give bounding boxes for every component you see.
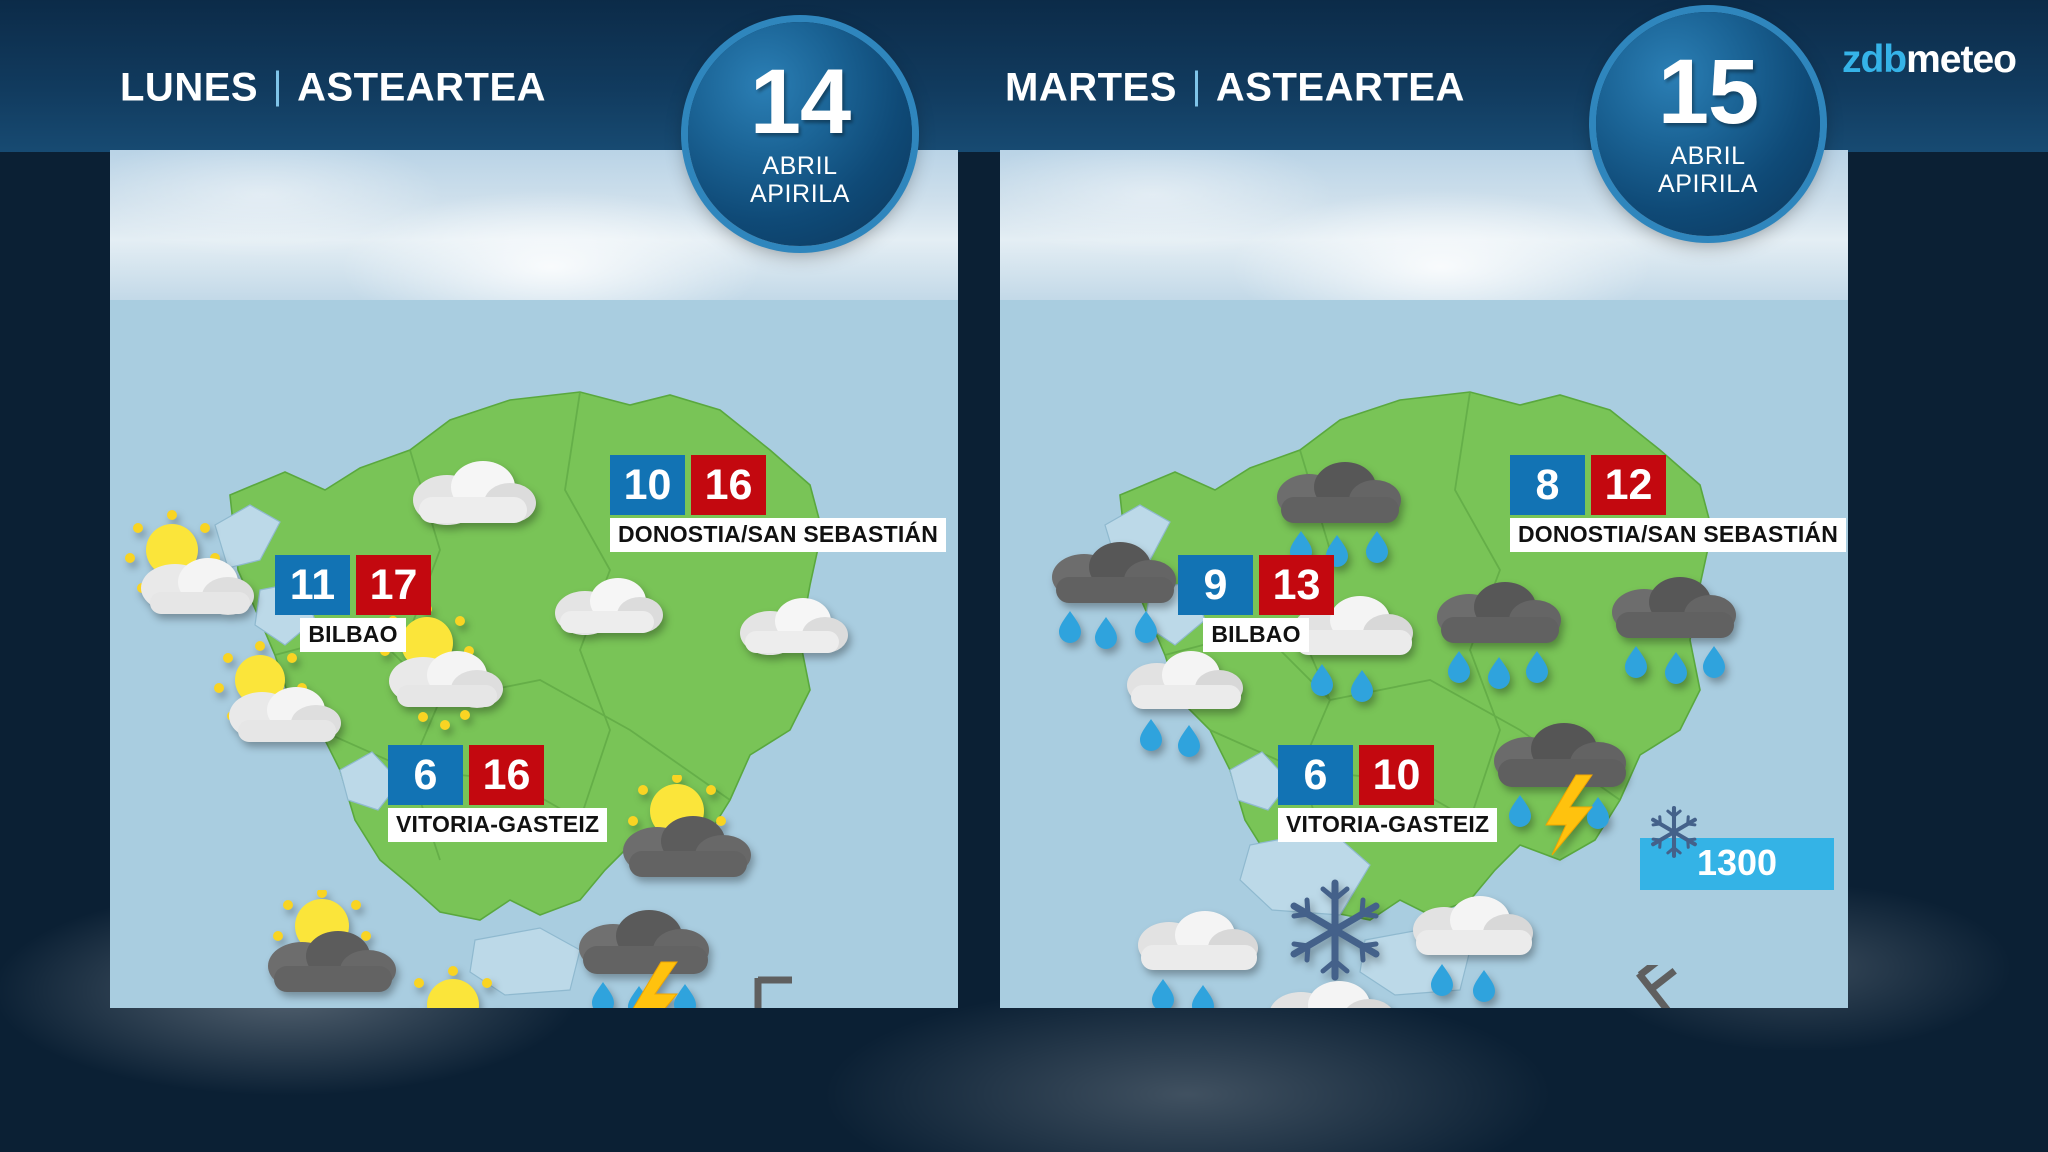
date-number: 15 xyxy=(1658,50,1758,135)
date-number: 14 xyxy=(750,60,850,145)
day-name-es: LUNES xyxy=(120,66,258,110)
rain-cloud-icon xyxy=(1600,560,1750,700)
wind-barb-south-icon xyxy=(740,970,810,1008)
temperature-group-bilbao: 11 17 BILBAO xyxy=(275,555,431,652)
temp-min: 6 xyxy=(388,745,463,805)
temperature-group-bilbao: 9 13 BILBAO xyxy=(1178,555,1334,652)
rain-cloud-icon xyxy=(1400,880,1545,1008)
sun-behind-dark-cloud-icon xyxy=(250,890,410,1008)
logo-part-meteo: meteo xyxy=(1906,38,2016,81)
temp-min: 9 xyxy=(1178,555,1253,615)
forecast-panel-monday: 10 16 DONOSTIA/SAN SEBASTIÁN 11 17 BILBA… xyxy=(110,150,958,1008)
wind-barb-southeast-icon xyxy=(1620,965,1720,1008)
temperature-row: 8 12 xyxy=(1510,455,1846,515)
sun-behind-dark-cloud-icon xyxy=(605,775,765,900)
date-badge-monday: 14 ABRIL APIRILA xyxy=(688,22,912,246)
temp-max: 13 xyxy=(1259,555,1334,615)
temp-min: 10 xyxy=(610,455,685,515)
temperature-row: 6 16 xyxy=(388,745,607,805)
rain-cloud-icon xyxy=(1425,565,1575,705)
thunderstorm-icon xyxy=(565,890,730,1008)
month-name-es: ABRIL xyxy=(762,152,837,180)
rain-cloud-icon xyxy=(1255,965,1410,1008)
temp-max: 16 xyxy=(469,745,544,805)
snow-level-badge: 1300 xyxy=(1640,838,1834,890)
rain-cloud-icon xyxy=(1115,635,1255,770)
date-badge-tuesday: 15 ABRIL APIRILA xyxy=(1596,12,1820,236)
cloud-icon xyxy=(725,585,855,670)
temp-min: 11 xyxy=(275,555,350,615)
temperature-group-donostia: 10 16 DONOSTIA/SAN SEBASTIÁN xyxy=(610,455,946,552)
panel-map-background: 8 12 DONOSTIA/SAN SEBASTIÁN 9 13 BILBAO … xyxy=(1000,300,1848,1008)
temp-max: 17 xyxy=(356,555,431,615)
day-name-es: MARTES xyxy=(1005,66,1177,110)
sun-behind-cloud-icon xyxy=(210,640,360,755)
zdbmeteo-logo: zdbmeteo xyxy=(1842,38,2016,82)
sun-behind-cloud-icon xyxy=(395,965,550,1008)
panel-title-tuesday: MARTESASTEARTEA xyxy=(1005,66,1465,111)
city-label: BILBAO xyxy=(300,618,405,652)
temp-min: 8 xyxy=(1510,455,1585,515)
month-name-eu: APIRILA xyxy=(750,180,850,208)
day-name-eu: ASTEARTEA xyxy=(1216,66,1465,110)
temperature-group-vitoria: 6 16 VITORIA-GASTEIZ xyxy=(388,745,607,842)
city-label: BILBAO xyxy=(1203,618,1308,652)
temperature-row: 11 17 xyxy=(275,555,431,615)
temperature-group-donostia: 8 12 DONOSTIA/SAN SEBASTIÁN xyxy=(1510,455,1846,552)
temp-min: 6 xyxy=(1278,745,1353,805)
sun-behind-cloud-icon xyxy=(120,510,270,630)
panel-map-background: 10 16 DONOSTIA/SAN SEBASTIÁN 11 17 BILBA… xyxy=(110,300,958,1008)
temp-max: 12 xyxy=(1591,455,1666,515)
month-name-es: ABRIL xyxy=(1670,142,1745,170)
city-label: DONOSTIA/SAN SEBASTIÁN xyxy=(1510,518,1846,552)
logo-part-zdb: zdb xyxy=(1842,38,1906,81)
temperature-row: 9 13 xyxy=(1178,555,1334,615)
temp-max: 10 xyxy=(1359,745,1434,805)
temperature-row: 10 16 xyxy=(610,455,946,515)
city-label: VITORIA-GASTEIZ xyxy=(388,808,607,842)
city-label: VITORIA-GASTEIZ xyxy=(1278,808,1497,842)
cloud-icon xyxy=(395,445,545,540)
day-name-eu: ASTEARTEA xyxy=(297,66,546,110)
temperature-row: 6 10 xyxy=(1278,745,1497,805)
title-separator xyxy=(1195,71,1198,107)
month-name-eu: APIRILA xyxy=(1658,170,1758,198)
thunderstorm-icon xyxy=(1480,705,1645,860)
snowflake-icon xyxy=(1646,804,1702,865)
city-label: DONOSTIA/SAN SEBASTIÁN xyxy=(610,518,946,552)
rain-cloud-icon xyxy=(1125,895,1270,1008)
title-separator xyxy=(276,71,279,107)
temperature-group-vitoria: 6 10 VITORIA-GASTEIZ xyxy=(1278,745,1497,842)
cloud-icon xyxy=(540,565,670,650)
temp-max: 16 xyxy=(691,455,766,515)
panel-title-monday: LUNESASTEARTEA xyxy=(120,66,546,111)
forecast-panel-tuesday: 8 12 DONOSTIA/SAN SEBASTIÁN 9 13 BILBAO … xyxy=(1000,150,1848,1008)
weather-forecast-graphic: LUNESASTEARTEA MARTESASTEARTEA zdbmeteo xyxy=(0,0,2048,1152)
